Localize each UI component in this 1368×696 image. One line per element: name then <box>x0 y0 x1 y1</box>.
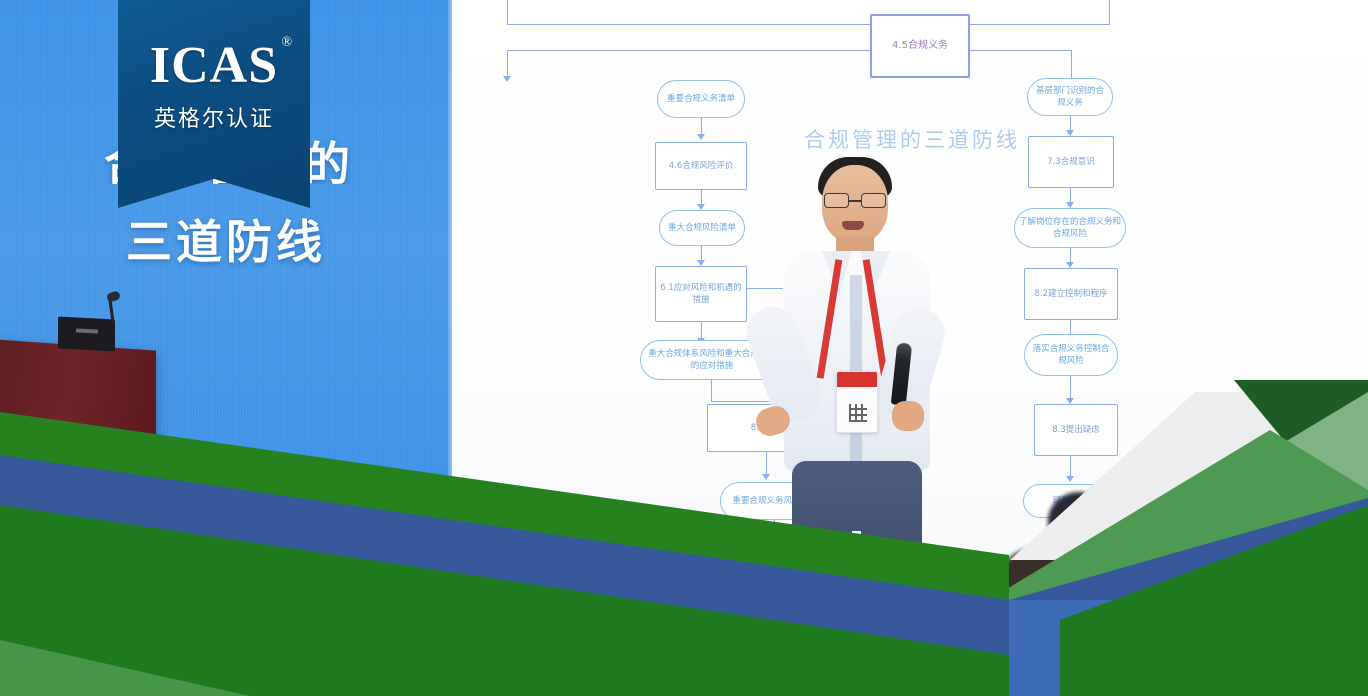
flow-node-left-2: 4.6合规风险评价 <box>655 142 747 190</box>
speaker-hand-right <box>892 401 924 431</box>
flow-edge <box>1070 456 1071 478</box>
flow-node-central: 4.5合规义务 <box>870 14 970 78</box>
flow-node-left-4: 6.1应对风险和机遇的措施 <box>655 266 747 322</box>
audience-head <box>1048 492 1110 550</box>
flow-arrow-icon <box>697 134 705 140</box>
flow-edge <box>507 0 508 24</box>
registered-trademark-icon: ® <box>281 36 293 50</box>
flow-edge <box>507 24 870 25</box>
flow-edge <box>1070 376 1071 400</box>
icas-logo-banner: ICAS ® 英格尔认证 <box>118 0 310 208</box>
flow-node-right-6: 8.3提出疑虑 <box>1034 404 1118 456</box>
speaker-figure <box>760 155 970 625</box>
presentation-screenshot: 合规管理的 三道防线 ICAS ® 英格尔认证 合规管理的三道防线 4.5合规义… <box>0 0 1368 696</box>
podium-equipment <box>58 317 115 352</box>
glasses-icon <box>824 193 886 208</box>
flow-edge <box>970 24 1110 25</box>
speaker-leg-gap <box>852 531 861 635</box>
slide-title: 合规管理的三道防线 <box>804 124 1020 154</box>
backdrop-headline-line2: 三道防线 <box>126 206 426 266</box>
conference-badge <box>836 371 878 433</box>
flow-arrow-icon <box>1066 476 1074 482</box>
flow-edge <box>711 380 712 402</box>
icas-chinese-subtitle: 英格尔认证 <box>154 101 274 133</box>
flow-node-right-5: 落实合规义务控制合规风险 <box>1024 334 1118 376</box>
audience-head <box>618 538 690 604</box>
icas-wordmark: ICAS ® <box>150 40 278 92</box>
flow-edge <box>970 50 1072 51</box>
flow-edge <box>507 50 508 78</box>
flow-arrow-icon <box>503 76 511 82</box>
audience-head <box>1000 548 1070 610</box>
flow-edge <box>1109 0 1110 24</box>
qr-code-icon <box>849 404 867 422</box>
icas-wordmark-text: ICAS <box>150 37 278 94</box>
flow-node-right-3: 了解岗位存在的合规义务和合规风险 <box>1014 208 1126 248</box>
flow-node-right-1: 基层部门识别的合规义务 <box>1027 78 1113 116</box>
flow-edge <box>1071 50 1072 80</box>
podium <box>0 339 156 500</box>
flow-edge <box>507 50 870 51</box>
flow-node-left-1: 重要合规义务清单 <box>657 80 745 118</box>
speaker-mouth <box>842 221 864 230</box>
flow-node-right-4: 8.2建立控制和程序 <box>1024 268 1118 320</box>
flow-node-left-3: 重大合规风险清单 <box>659 210 745 246</box>
badge-header-band <box>837 372 877 387</box>
flow-node-right-2: 7.3合规意识 <box>1028 136 1114 188</box>
